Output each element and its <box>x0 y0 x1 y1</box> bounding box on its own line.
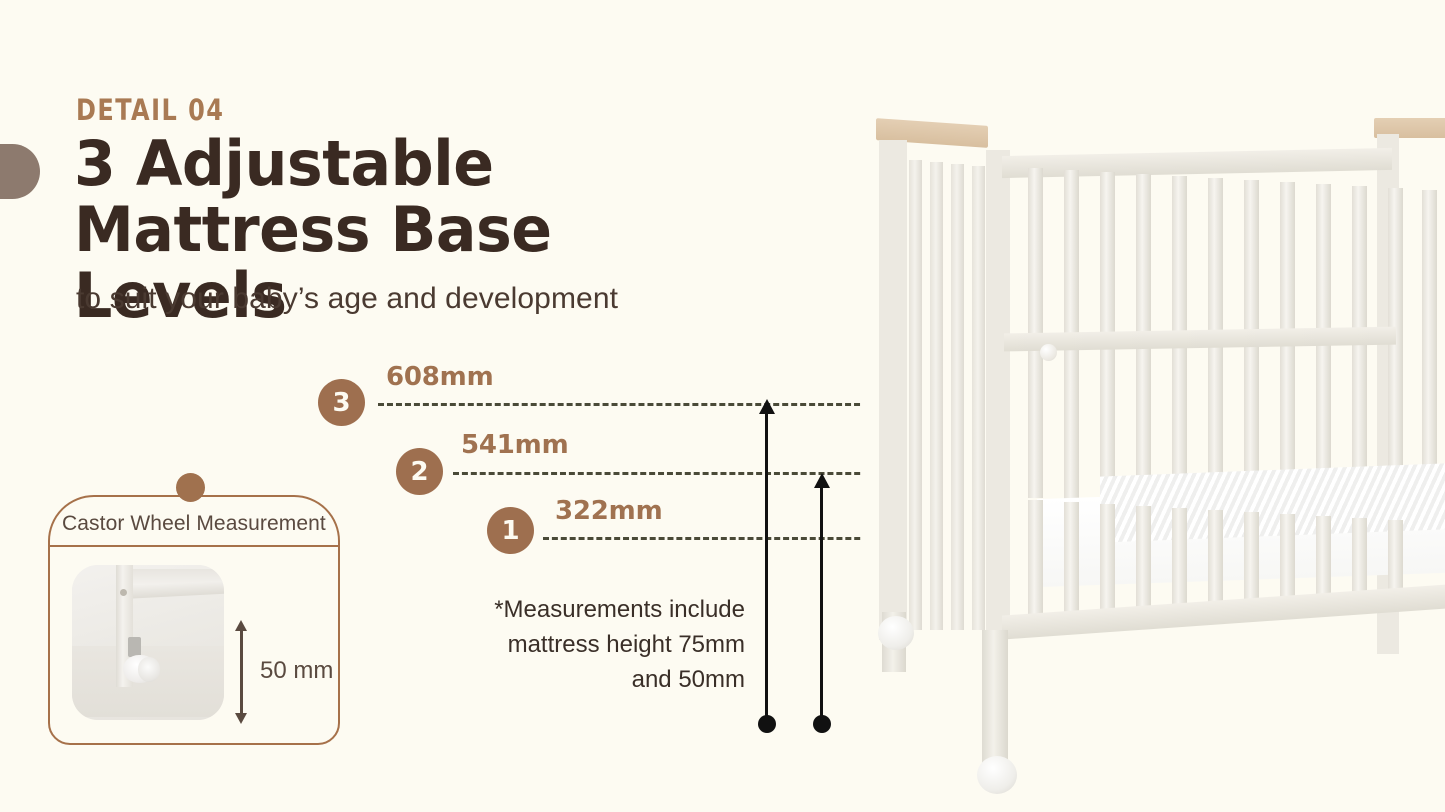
level-value-3: 608mm <box>386 362 493 392</box>
crib-post-left-inner <box>986 150 1010 630</box>
measure-arrow-2 <box>820 486 823 724</box>
photo-caster-bracket <box>128 637 141 657</box>
crib-slat <box>1244 180 1259 520</box>
photo-screw <box>120 589 127 596</box>
page-subtitle: to suit your baby’s age and development <box>76 282 618 316</box>
arrowhead-up-icon <box>814 473 830 488</box>
left-edge-tab <box>0 144 40 199</box>
level-value-1: 322mm <box>555 496 662 526</box>
castor-card-divider <box>48 545 340 547</box>
caster-wheel-rear <box>878 616 914 650</box>
crib-product-photo <box>862 0 1445 812</box>
photo-caster-wheel-front <box>138 657 160 682</box>
crib-knob <box>1040 344 1057 361</box>
crib-slat <box>909 160 922 630</box>
crib-slat-lower <box>1064 502 1079 620</box>
castor-dimension-label: 50 mm <box>260 657 333 685</box>
crib-slat <box>930 162 943 630</box>
footnote-line-1: *Measurements include <box>494 596 745 623</box>
caster-wheel-front <box>977 756 1017 794</box>
measure-arrow-3 <box>765 412 768 724</box>
crib-slat-lower <box>1172 508 1187 614</box>
crib-slat-lower <box>1352 518 1367 594</box>
measurement-footnote: *Measurements include mattress height 75… <box>470 592 745 697</box>
level-line-3 <box>378 403 878 406</box>
arrowhead-up-icon <box>759 399 775 414</box>
crib-mid-rail <box>1004 327 1396 352</box>
level-badge-3: 3 <box>318 379 365 426</box>
crib-slat-lower <box>1136 506 1151 618</box>
footnote-line-3: and 50mm <box>632 666 745 693</box>
crib-slat-lower <box>1208 510 1223 610</box>
page-title-line-1: 3 Adjustable <box>74 127 494 200</box>
level-badge-1: 1 <box>487 507 534 554</box>
level-value-2: 541mm <box>461 430 568 460</box>
arrow-base-dot <box>758 715 776 733</box>
castor-wheel-photo <box>72 565 224 720</box>
castor-card-pin-dot <box>176 473 205 502</box>
slide-root: DETAIL 04 3 Adjustable Mattress Base Lev… <box>0 0 1445 812</box>
castor-dimension-arrow <box>240 630 243 714</box>
crib-slat-lower <box>1280 514 1295 602</box>
footnote-line-2: mattress height 75mm <box>508 631 745 658</box>
crib-post-left <box>879 140 907 640</box>
arrow-base-dot <box>813 715 831 733</box>
crib-slat-lower <box>1388 520 1403 590</box>
level-line-1 <box>543 537 878 540</box>
crib-slat-lower <box>1028 500 1043 616</box>
crib-slat-lower <box>1244 512 1259 606</box>
eyebrow-label: DETAIL 04 <box>76 93 224 127</box>
crib-slat-lower <box>1100 504 1115 620</box>
crib-slat-lower <box>1316 516 1331 598</box>
level-badge-2: 2 <box>396 448 443 495</box>
castor-card-title: Castor Wheel Measurement <box>62 512 330 536</box>
crib-top-rail <box>1002 148 1392 178</box>
crib-slat <box>972 166 985 630</box>
crib-slat <box>951 164 964 630</box>
